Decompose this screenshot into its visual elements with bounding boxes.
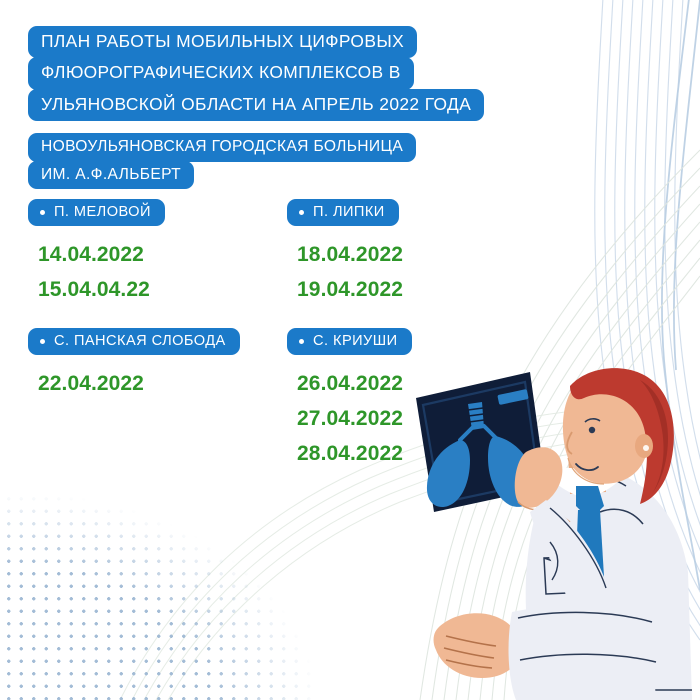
bullet-icon xyxy=(299,210,304,215)
title-line-1: ПЛАН РАБОТЫ МОБИЛЬНЫХ ЦИФРОВЫХ xyxy=(28,26,417,58)
dot-grid-decoration xyxy=(0,430,320,700)
date-list: 22.04.2022 xyxy=(28,355,287,394)
locations-schedule: П. МЕЛОВОЙ 14.04.2022 15.04.04.22 П. ЛИП… xyxy=(28,199,468,464)
location-name: П. МЕЛОВОЙ xyxy=(54,204,151,220)
location-block-p-melovoy: П. МЕЛОВОЙ 14.04.2022 15.04.04.22 xyxy=(28,199,287,300)
location-block-p-lipki: П. ЛИПКИ 18.04.2022 19.04.2022 xyxy=(287,199,468,300)
bullet-icon xyxy=(299,339,304,344)
location-badge[interactable]: П. ЛИПКИ xyxy=(287,199,399,226)
location-name: С. ПАНСКАЯ СЛОБОДА xyxy=(54,333,226,349)
location-badge[interactable]: С. КРИУШИ xyxy=(287,328,411,355)
date-item: 28.04.2022 xyxy=(287,429,468,464)
doctor-lower-hand xyxy=(434,613,521,678)
location-block-s-kriushi: С. КРИУШИ 26.04.2022 27.04.2022 28.04.20… xyxy=(287,328,468,464)
page-subtitle: НОВОУЛЬЯНОВСКАЯ ГОРОДСКАЯ БОЛЬНИЦА ИМ. А… xyxy=(28,133,416,189)
subtitle-line-2: ИМ. А.Ф.АЛЬБЕРТ xyxy=(28,161,194,190)
page-title: ПЛАН РАБОТЫ МОБИЛЬНЫХ ЦИФРОВЫХ ФЛЮОРОГРА… xyxy=(28,26,484,121)
date-item: 15.04.04.22 xyxy=(28,265,287,300)
schedule-row: С. ПАНСКАЯ СЛОБОДА 22.04.2022 С. КРИУШИ … xyxy=(28,328,468,464)
location-name: С. КРИУШИ xyxy=(313,333,397,349)
date-item: 14.04.2022 xyxy=(28,226,287,265)
location-badge[interactable]: С. ПАНСКАЯ СЛОБОДА xyxy=(28,328,240,355)
date-list: 18.04.2022 19.04.2022 xyxy=(287,226,468,300)
date-item: 18.04.2022 xyxy=(287,226,468,265)
date-list: 26.04.2022 27.04.2022 28.04.2022 xyxy=(287,355,468,464)
date-item: 26.04.2022 xyxy=(287,355,468,394)
location-badge[interactable]: П. МЕЛОВОЙ xyxy=(28,199,165,226)
date-list: 14.04.2022 15.04.04.22 xyxy=(28,226,287,300)
date-item: 19.04.2022 xyxy=(287,265,468,300)
bullet-icon xyxy=(40,210,45,215)
subtitle-line-1: НОВОУЛЬЯНОВСКАЯ ГОРОДСКАЯ БОЛЬНИЦА xyxy=(28,133,416,162)
infographic-poster: ПЛАН РАБОТЫ МОБИЛЬНЫХ ЦИФРОВЫХ ФЛЮОРОГРА… xyxy=(0,0,700,700)
bullet-icon xyxy=(40,339,45,344)
location-name: П. ЛИПКИ xyxy=(313,204,385,220)
title-line-3: УЛЬЯНОВСКОЙ ОБЛАСТИ НА АПРЕЛЬ 2022 ГОДА xyxy=(28,89,484,121)
location-block-s-panskaya-sloboda: С. ПАНСКАЯ СЛОБОДА 22.04.2022 xyxy=(28,328,287,394)
schedule-row: П. МЕЛОВОЙ 14.04.2022 15.04.04.22 П. ЛИП… xyxy=(28,199,468,300)
date-item: 22.04.2022 xyxy=(28,355,287,394)
date-item: 27.04.2022 xyxy=(287,394,468,429)
title-line-2: ФЛЮОРОГРАФИЧЕСКИХ КОМПЛЕКСОВ В xyxy=(28,57,414,89)
